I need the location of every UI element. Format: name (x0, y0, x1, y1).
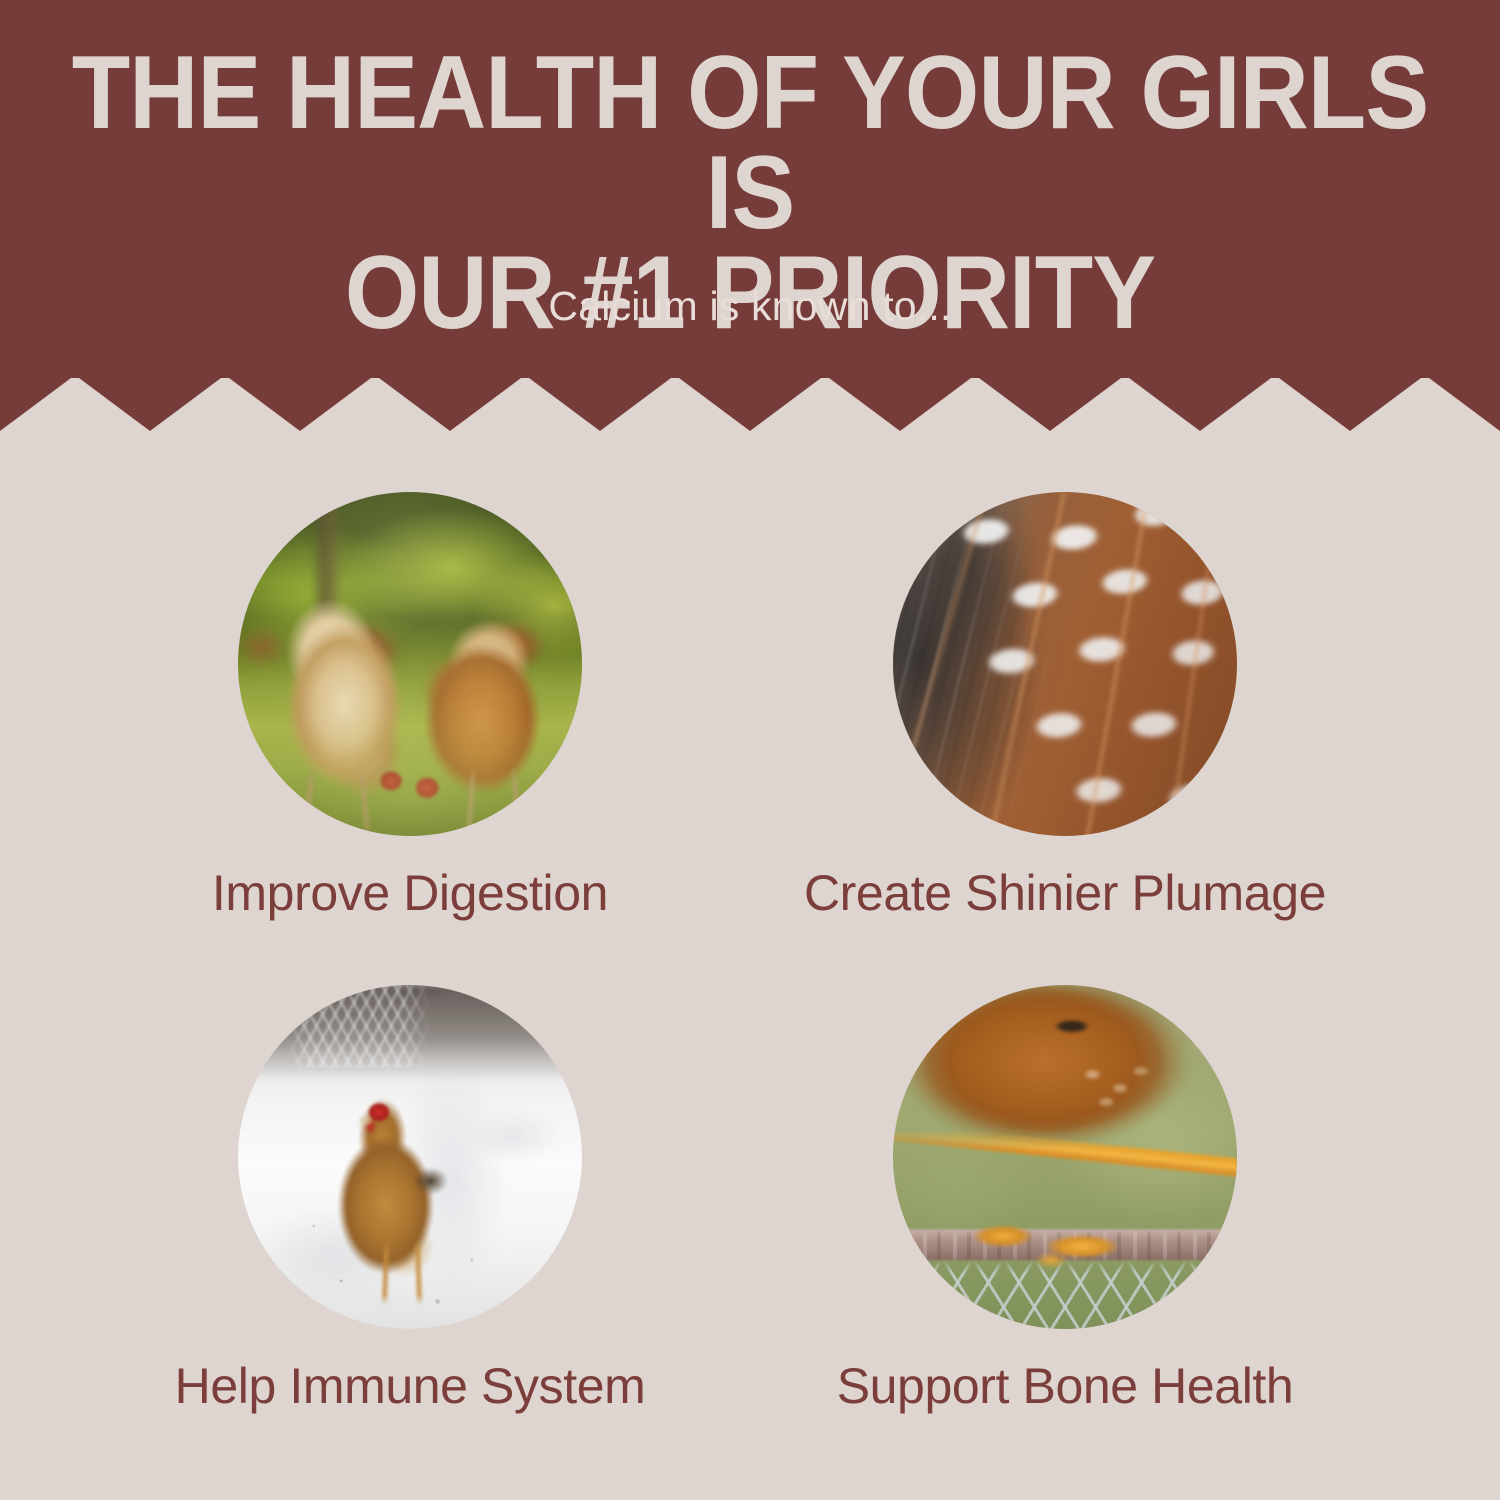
feather-quills (893, 492, 1237, 836)
benefit-label-improve-digestion: Improve Digestion (90, 866, 730, 921)
zigzag-divider (0, 375, 1500, 431)
photo-hens-foraging-grass (238, 492, 582, 836)
benefit-item-create-shinier-plumage: Create Shinier Plumage (745, 492, 1385, 921)
hen-claw (893, 985, 1237, 1329)
infographic-poster: THE HEALTH OF YOUR GIRLS IS OUR #1 PRIOR… (0, 0, 1500, 1500)
benefit-item-improve-digestion: Improve Digestion (90, 492, 730, 921)
benefit-label-help-immune-system: Help Immune System (90, 1359, 730, 1414)
photo-laced-feather-closeup (893, 492, 1237, 836)
benefit-item-support-bone-health: Support Bone Health (745, 985, 1385, 1414)
benefit-label-create-shinier-plumage: Create Shinier Plumage (745, 866, 1385, 921)
sunlight-overlay (238, 492, 582, 836)
photo-hen-feet-on-fence-rail (893, 985, 1237, 1329)
benefit-item-help-immune-system: Help Immune System (90, 985, 730, 1414)
photo-hen-standing-in-snow (238, 985, 582, 1329)
benefit-label-support-bone-health: Support Bone Health (745, 1359, 1385, 1414)
snow-debris-specks (238, 985, 582, 1329)
header-subtitle: Calcium is known to... (0, 283, 1500, 330)
